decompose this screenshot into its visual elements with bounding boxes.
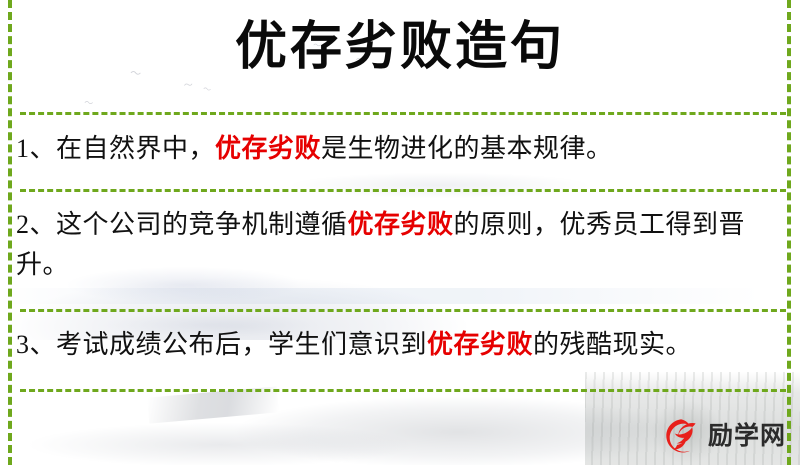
sentence-2-keyword: 优存劣败 xyxy=(348,210,454,239)
sentence-3-keyword: 优存劣败 xyxy=(427,330,533,359)
site-logo-text: 励学网 xyxy=(708,424,786,449)
sentence-2-before: 这个公司的竞争机制遵循 xyxy=(56,210,348,239)
page-title: 优存劣败造句 xyxy=(0,22,800,74)
sentence-3-index: 3、 xyxy=(16,330,56,359)
site-logo[interactable]: 励学网 xyxy=(664,414,794,458)
sentence-3-after: 的残酷现实。 xyxy=(533,330,692,359)
worksheet-page: 〜 〜 〜 〜 〜 〜 优存劣败造句 1、在自然界中，优存劣败是生物进化的基本规… xyxy=(0,0,800,465)
list-item: 1、在自然界中，优存劣败是生物进化的基本规律。 xyxy=(16,129,782,169)
list-item: 3、考试成绩公布后，学生们意识到优存劣败的残酷现实。 xyxy=(16,325,782,365)
sentence-2-index: 2、 xyxy=(16,210,56,239)
watermark-bird-icon: 〜 xyxy=(184,82,194,92)
list-item: 2、这个公司的竞争机制遵循优存劣败的原则，优秀员工得到晋升。 xyxy=(16,205,782,285)
sentence-1-keyword: 优存劣败 xyxy=(215,134,321,163)
watermark-bird-icon: 〜 xyxy=(84,100,94,110)
sentence-3-before: 考试成绩公布后，学生们意识到 xyxy=(56,330,427,359)
sentence-list: 1、在自然界中，优存劣败是生物进化的基本规律。 2、这个公司的竞争机制遵循优存劣… xyxy=(16,112,786,390)
watermark-mountain-low xyxy=(0,415,470,465)
watermark-bird-icon: 〜 xyxy=(202,85,211,94)
sentence-1-index: 1、 xyxy=(16,134,56,163)
sentence-1-before: 在自然界中， xyxy=(56,134,215,163)
sentence-1-after: 是生物进化的基本规律。 xyxy=(321,134,613,163)
red-swirl-flame-icon xyxy=(664,417,702,455)
watermark-mountain-mid xyxy=(150,380,710,465)
